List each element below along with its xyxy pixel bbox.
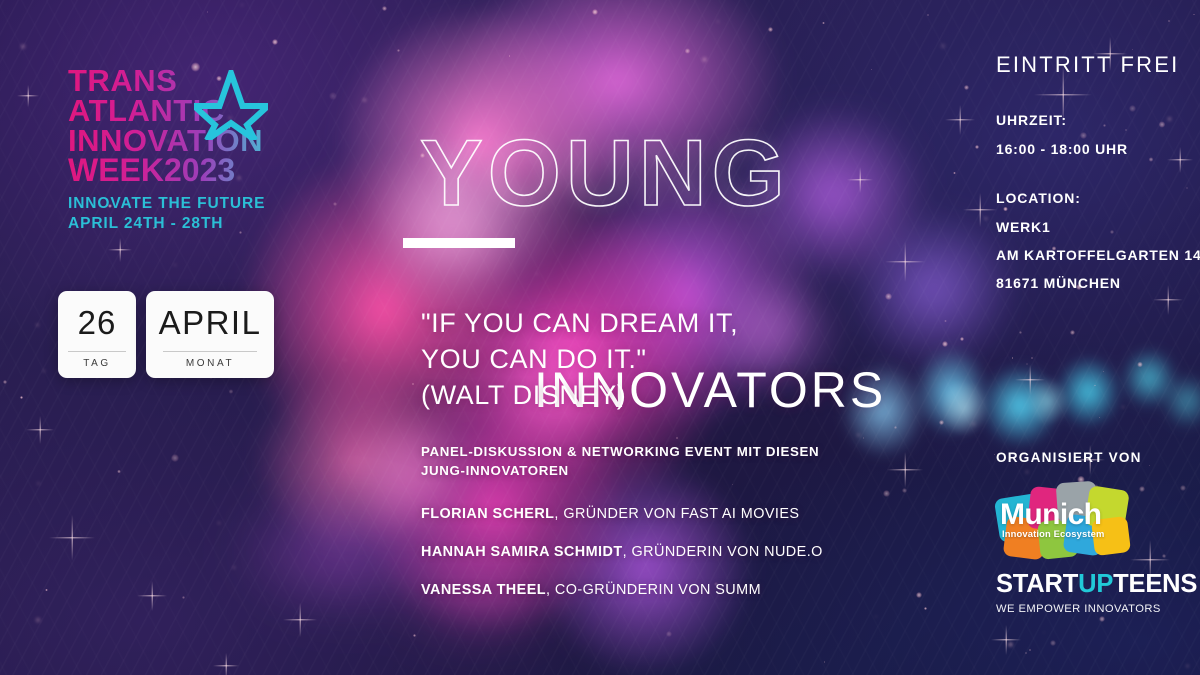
sparkle-dot — [344, 359, 347, 362]
date-month-value: APRIL — [159, 300, 262, 346]
star-icon — [194, 70, 268, 140]
sparkle-dot — [1025, 470, 1028, 473]
location-label: LOCATION: — [996, 190, 1196, 206]
quote-line-2: YOU CAN DO IT." — [421, 342, 891, 378]
startupteens-tagline: WE EMPOWER INNOVATORS — [996, 603, 1196, 615]
sparkle-dot — [894, 426, 896, 428]
sparkle-dot — [182, 596, 184, 598]
sparkle-dot — [863, 437, 864, 438]
sparkle-dot — [1099, 417, 1100, 418]
sparkle-dot — [1099, 616, 1105, 622]
sparkle-dot — [702, 57, 707, 62]
sparkle-dot — [953, 172, 956, 175]
logo-line-4: WEEK2023 — [68, 155, 328, 186]
sparkle-dot — [944, 320, 946, 322]
sparkle-dot — [1029, 649, 1031, 651]
sparkle-dot — [1168, 20, 1170, 22]
logo-tagline-line-1: INNOVATE THE FUTURE — [68, 194, 328, 214]
sparkle-dot — [717, 20, 719, 22]
sparkle-dot — [20, 396, 24, 400]
munich-subtitle: Innovation Ecosystem — [1002, 528, 1142, 539]
sparkle-dot — [1012, 357, 1013, 358]
sparkle-dot — [685, 48, 691, 54]
sparkle-dot — [333, 202, 337, 206]
speaker-role: , GRÜNDER VON FAST AI MOVIES — [554, 506, 799, 522]
sparkle-dot — [1070, 330, 1075, 335]
startupteens-start: START — [996, 570, 1078, 598]
sparkle-dot — [363, 98, 366, 101]
sparkle-dot — [822, 22, 825, 25]
sparkle-dot — [1050, 640, 1056, 646]
sparkle-dot — [36, 324, 38, 326]
time-value: 16:00 - 18:00 UHR — [996, 142, 1196, 156]
sparkle-dot — [857, 433, 861, 437]
time-label: UHRZEIT: — [996, 112, 1196, 128]
munich-innovation-ecosystem-logo: Munich Innovation Ecosystem — [995, 478, 1135, 558]
quote-line-1: "IF YOU CAN DREAM IT, — [421, 306, 891, 342]
sparkle-dot — [940, 43, 946, 49]
sparkle-dot — [60, 218, 61, 219]
sparkle-dot — [1104, 372, 1105, 373]
sparkle-dot — [1162, 554, 1166, 558]
date-card-divider — [68, 351, 126, 352]
speaker-role: , GRÜNDERIN VON NUDE.O — [623, 544, 823, 560]
sparkle-dot — [1043, 632, 1044, 633]
date-card-month: APRIL MONAT — [146, 291, 274, 378]
sparkle-dot — [916, 592, 923, 599]
sparkle-dot — [1149, 465, 1150, 466]
sparkle-dot — [1186, 665, 1189, 668]
location-city: 81671 MÜNCHEN — [996, 276, 1196, 290]
date-day-value: 26 — [78, 300, 117, 346]
smoke-cloud-cyan-highlight — [880, 330, 1180, 500]
sparkle-dot — [585, 255, 587, 257]
sparkle-dot — [412, 383, 414, 385]
sparkle-dot — [117, 470, 121, 474]
sparkle-dot — [768, 27, 773, 32]
organisers-section: ORGANISIERT VON Munich Innovation Ecosys… — [996, 450, 1196, 465]
sparkle-dot — [3, 380, 7, 384]
sparkle-dot — [35, 617, 41, 623]
panel-intro-line-2: JUNG-INNOVATOREN — [421, 462, 901, 481]
sparkle-dot — [875, 616, 877, 618]
sparkle-dot — [676, 437, 678, 439]
headline-young: YOUNG — [420, 128, 940, 217]
date-day-label: TAG — [83, 358, 111, 369]
date-cards: 26 TAG APRIL MONAT — [58, 291, 274, 378]
speaker-row: VANESSA THEEL, CO-GRÜNDERIN VON SUMM — [421, 582, 901, 598]
sparkle-dot — [960, 337, 963, 340]
sparkle-dot — [939, 420, 944, 425]
sparkle-dot — [666, 631, 672, 637]
admission-label: EINTRITT FREI — [996, 52, 1196, 78]
sparkle-dot — [964, 85, 968, 89]
quote-block: "IF YOU CAN DREAM IT, YOU CAN DO IT." (W… — [421, 306, 891, 414]
time-block: UHRZEIT: 16:00 - 18:00 UHR — [996, 112, 1196, 156]
sparkle-dot — [592, 9, 598, 15]
sparkle-dot — [45, 589, 47, 591]
sparkle-dot — [509, 55, 511, 57]
sparkle-dot — [382, 6, 387, 11]
sparkle-dot — [1019, 331, 1022, 334]
speaker-name: HANNAH SAMIRA SCHMIDT — [421, 544, 623, 560]
organisers-label: ORGANISIERT VON — [996, 450, 1196, 465]
event-poster: .g72_538::before{width:46px;height:1.4px… — [0, 0, 1200, 675]
headline: YOUNG INNOVATORS — [420, 128, 940, 217]
panel-section: PANEL-DISKUSSION & NETWORKING EVENT MIT … — [421, 443, 901, 598]
sparkle-dot — [1008, 642, 1013, 647]
quote-line-3: (WALT DISNEY) — [421, 378, 891, 414]
speaker-list: FLORIAN SCHERL, GRÜNDER VON FAST AI MOVI… — [421, 506, 901, 598]
sparkle-dot — [927, 14, 929, 16]
sparkle-dot — [397, 49, 400, 52]
startupteens-logo: STARTUPTEENS WE EMPOWER INNOVATORS — [996, 572, 1196, 615]
sparkle-dot — [1026, 363, 1028, 365]
startupteens-wordmark: STARTUPTEENS — [996, 572, 1196, 598]
sparkle-dot — [218, 522, 220, 524]
sparkle-dot — [1132, 49, 1133, 50]
speaker-role: , CO-GRÜNDERIN VON SUMM — [546, 582, 761, 598]
headline-rule — [403, 238, 515, 248]
sparkle-dot — [1180, 485, 1186, 491]
sparkle-dot — [241, 4, 243, 6]
sparkle-dot — [174, 264, 176, 266]
logo-tagline: INNOVATE THE FUTURE APRIL 24TH - 28TH — [68, 194, 328, 234]
sparkle-dot — [942, 341, 948, 347]
sparkle-dot — [229, 389, 233, 393]
sparkle-dot — [1094, 385, 1095, 386]
sparkle-dot — [1031, 357, 1033, 359]
date-month-label: MONAT — [186, 358, 234, 369]
location-block: LOCATION: WERK1 AM KARTOFFELGARTEN 14 81… — [996, 190, 1196, 290]
sparkle-dot — [233, 566, 236, 569]
sparkle-dot — [37, 482, 41, 486]
sparkle-dot — [1103, 371, 1104, 372]
sparkle-dot — [272, 39, 278, 45]
sparkle-dot — [1122, 406, 1124, 408]
date-card-divider — [163, 351, 258, 352]
sparkle-dot — [824, 661, 826, 663]
sparkle-dot — [171, 454, 179, 462]
event-info: EINTRITT FREI UHRZEIT: 16:00 - 18:00 UHR… — [996, 52, 1196, 304]
location-street: AM KARTOFFELGARTEN 14 — [996, 248, 1196, 262]
sparkle-dot — [64, 251, 65, 252]
sparkle-dot — [1025, 652, 1027, 654]
date-card-day: 26 TAG — [58, 291, 136, 378]
sparkle-dot — [975, 145, 979, 149]
sparkle-dot — [413, 634, 416, 637]
sparkle-dot — [885, 293, 892, 300]
speaker-name: VANESSA THEEL — [421, 582, 546, 598]
sparkle-dot — [207, 11, 209, 13]
sparkle-dot — [1139, 486, 1145, 492]
location-venue: WERK1 — [996, 220, 1196, 234]
speaker-row: HANNAH SAMIRA SCHMIDT, GRÜNDERIN VON NUD… — [421, 544, 901, 560]
sparkle-dot — [43, 370, 44, 371]
sparkle-dot — [536, 273, 538, 275]
speaker-row: FLORIAN SCHERL, GRÜNDER VON FAST AI MOVI… — [421, 506, 901, 522]
sparkle-dot — [984, 217, 988, 221]
startupteens-up: UP — [1078, 570, 1113, 598]
panel-intro: PANEL-DISKUSSION & NETWORKING EVENT MIT … — [421, 443, 901, 481]
sparkle-dot — [924, 607, 927, 610]
sparkle-dot — [20, 44, 26, 50]
logo-tagline-line-2: APRIL 24TH - 28TH — [68, 214, 328, 234]
panel-intro-line-1: PANEL-DISKUSSION & NETWORKING EVENT MIT … — [421, 443, 901, 462]
sparkle-dot — [902, 488, 907, 493]
sparkle-dot — [329, 92, 337, 100]
sparkle-dot — [1193, 14, 1194, 15]
sparkle-dot — [971, 421, 976, 426]
transatlantic-innovation-week-logo: TRANS ATLANTIC INNOVATION WEEK2023 INNOV… — [68, 66, 328, 234]
sparkle-dot — [1137, 362, 1143, 368]
munich-wordmark: Munich — [1000, 500, 1135, 530]
sparkle-dot — [871, 69, 872, 70]
speaker-name: FLORIAN SCHERL — [421, 506, 554, 522]
startupteens-teens: TEENS — [1113, 570, 1197, 598]
